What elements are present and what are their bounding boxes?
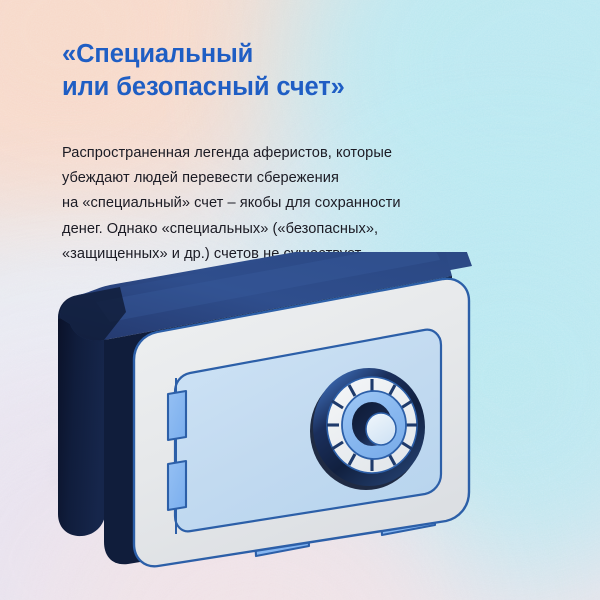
safe-svg bbox=[0, 252, 600, 600]
poster-canvas: «Специальный или безопасный счет» Распро… bbox=[0, 0, 600, 600]
text-block: «Специальный или безопасный счет» Распро… bbox=[62, 38, 532, 267]
safe-illustration bbox=[0, 252, 600, 600]
body-paragraph: Распространенная легенда аферистов, кото… bbox=[62, 103, 532, 266]
page-title: «Специальный или безопасный счет» bbox=[62, 38, 532, 103]
